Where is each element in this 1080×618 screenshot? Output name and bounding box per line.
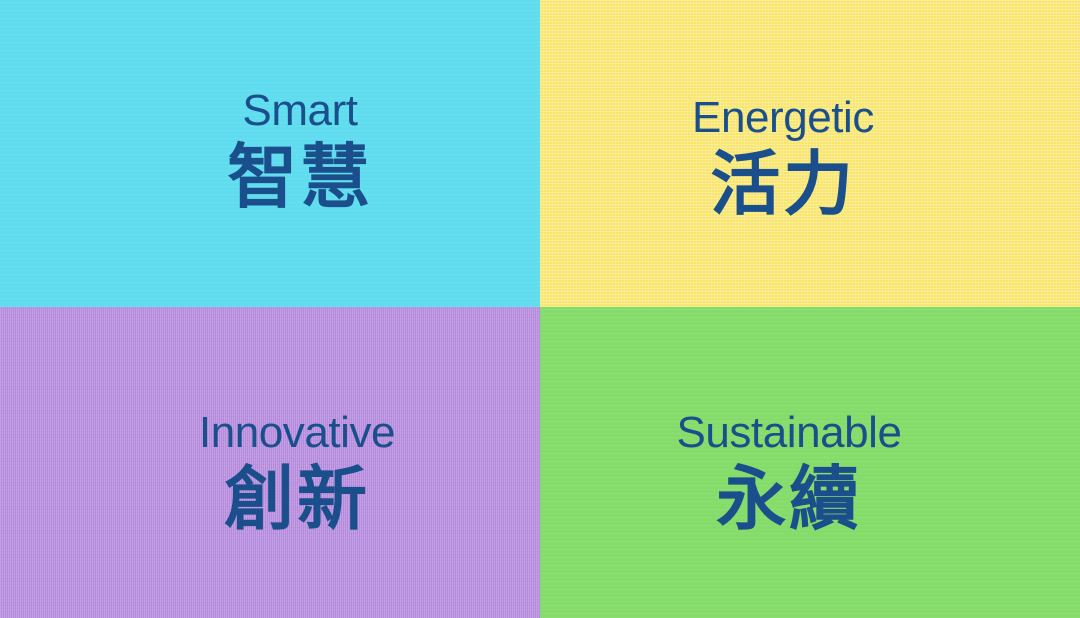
label-en-innovative: Innovative xyxy=(54,410,540,456)
label-zh-innovative: 創新 xyxy=(54,460,540,538)
quadrant-energetic[interactable]: Energetic 活力 xyxy=(540,0,1080,307)
quadrant-smart[interactable]: Smart 智慧 xyxy=(0,0,540,307)
brand-values-grid: Smart 智慧 Energetic 活力 Innovative 創新 Sust… xyxy=(0,0,1080,618)
value-block-energetic: Energetic 活力 xyxy=(540,95,1080,224)
label-en-smart: Smart xyxy=(60,88,540,134)
label-zh-smart: 智慧 xyxy=(60,138,540,216)
label-zh-energetic: 活力 xyxy=(540,145,1026,223)
value-block-innovative: Innovative 創新 xyxy=(0,410,540,539)
label-zh-sustainable: 永續 xyxy=(540,460,1038,538)
quadrant-innovative[interactable]: Innovative 創新 xyxy=(0,307,540,618)
label-en-energetic: Energetic xyxy=(540,95,1026,141)
value-block-sustainable: Sustainable 永續 xyxy=(540,410,1080,539)
quadrant-sustainable[interactable]: Sustainable 永續 xyxy=(540,307,1080,618)
value-block-smart: Smart 智慧 xyxy=(0,88,540,217)
label-en-sustainable: Sustainable xyxy=(540,410,1038,456)
